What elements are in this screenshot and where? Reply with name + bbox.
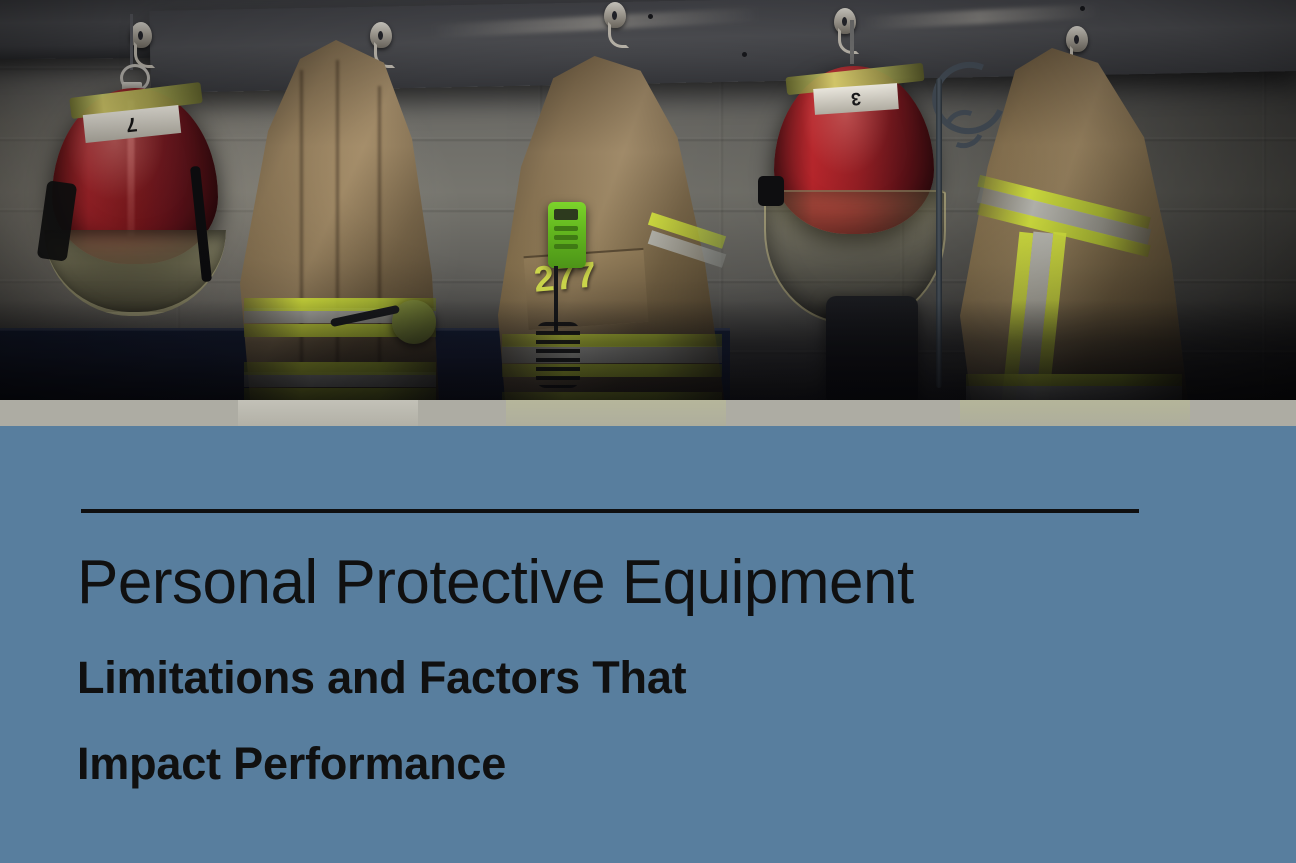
divider-band — [0, 400, 1296, 426]
beam-nail-icon — [1080, 6, 1085, 11]
fire-helmet-left: 7 — [46, 62, 224, 312]
title-panel: Personal Protective Equipment Limitation… — [0, 426, 1296, 863]
band-ghost-overlay — [960, 400, 1190, 426]
band-ghost-overlay — [506, 400, 726, 426]
page-subtitle-line-2: Impact Performance — [77, 741, 506, 786]
photo-lower-shadow — [0, 300, 1296, 400]
page-title: Personal Protective Equipment — [77, 552, 914, 614]
beam-nail-icon — [648, 14, 653, 19]
portable-radio-icon — [548, 202, 586, 268]
band-ghost-overlay — [238, 400, 418, 426]
wall-hook-icon — [604, 2, 626, 42]
page-subtitle-line-1: Limitations and Factors That — [77, 655, 686, 700]
helmet-left-number: 7 — [125, 113, 138, 134]
hero-photo: 7 277 — [0, 0, 1296, 400]
title-divider-rule — [81, 509, 1139, 513]
wall-hook-icon — [130, 22, 152, 62]
fire-helmet-right: 3 — [770, 58, 942, 316]
helmet-right-number: 3 — [850, 90, 861, 109]
beam-nail-icon — [742, 52, 747, 57]
slide-root: 7 277 — [0, 0, 1296, 863]
